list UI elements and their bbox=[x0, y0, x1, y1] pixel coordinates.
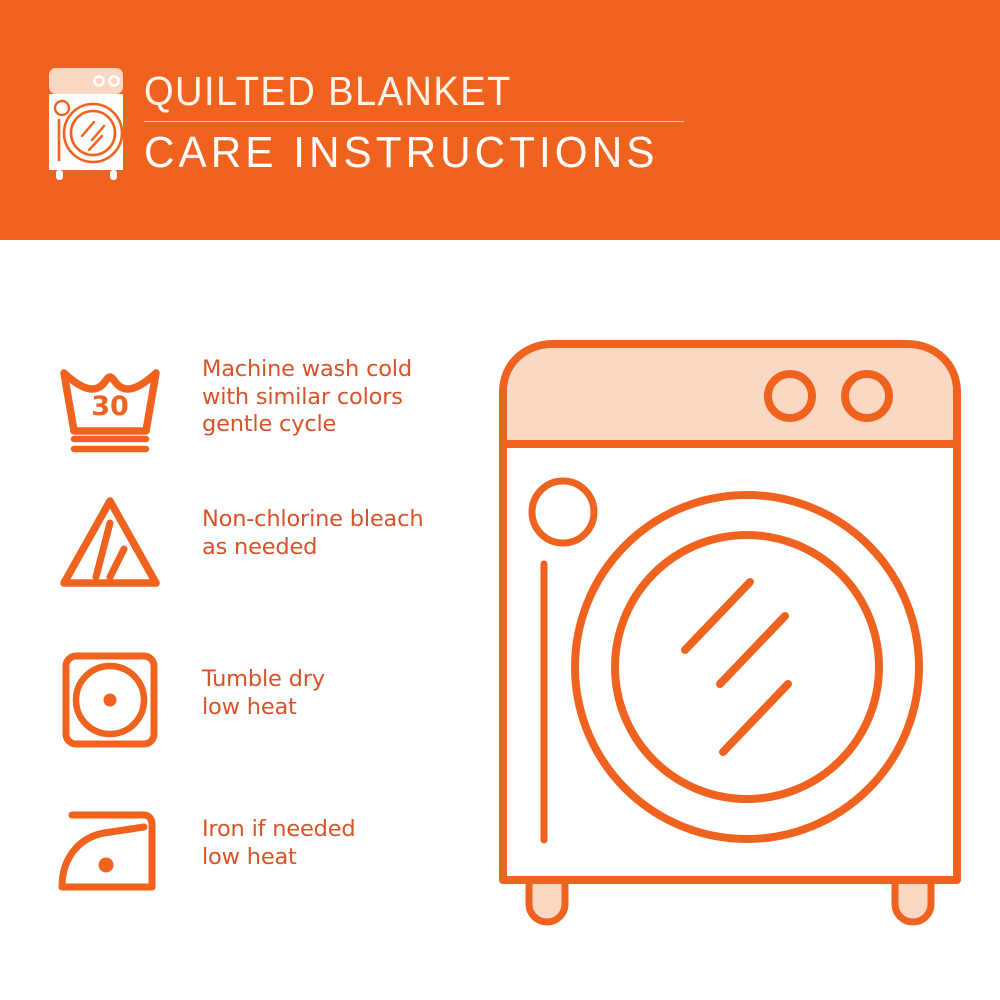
wash-basin-icon: 30 bbox=[48, 340, 172, 464]
page-title: QUILTED BLANKET bbox=[144, 68, 665, 114]
page-header: QUILTED BLANKET CARE INSTRUCTIONS bbox=[0, 0, 1000, 240]
wash-temperature-value: 30 bbox=[91, 391, 129, 422]
care-item-bleach: Non-chlorine bleach as needed bbox=[0, 480, 480, 630]
care-line: with similar colors bbox=[202, 384, 480, 412]
care-line: low heat bbox=[202, 844, 480, 872]
care-item-bleach-text: Non-chlorine bleach as needed bbox=[202, 506, 480, 561]
care-line: low heat bbox=[202, 694, 480, 722]
care-line: Tumble dry bbox=[202, 666, 480, 694]
care-item-wash: 30 Machine wash cold with similar colors… bbox=[0, 340, 480, 490]
care-line: as needed bbox=[202, 534, 480, 562]
care-line: Machine wash cold bbox=[202, 356, 480, 384]
bleach-triangle-icon bbox=[48, 480, 172, 604]
page-subtitle: CARE INSTRUCTIONS bbox=[144, 128, 682, 178]
care-item-wash-text: Machine wash cold with similar colors ge… bbox=[202, 356, 480, 439]
iron-icon bbox=[48, 790, 172, 914]
care-line: Non-chlorine bleach bbox=[202, 506, 480, 534]
care-item-iron-text: Iron if needed low heat bbox=[202, 816, 480, 871]
header-title-group: QUILTED BLANKET CARE INSTRUCTIONS bbox=[144, 68, 704, 178]
care-item-tumble-dry-text: Tumble dry low heat bbox=[202, 666, 480, 721]
tumble-dry-icon bbox=[48, 640, 172, 764]
care-item-tumble-dry: Tumble dry low heat bbox=[0, 640, 480, 790]
title-divider bbox=[144, 121, 684, 122]
care-line: gentle cycle bbox=[202, 411, 480, 439]
washing-machine-illustration bbox=[495, 332, 965, 932]
washing-machine-icon bbox=[44, 64, 136, 182]
care-item-iron: Iron if needed low heat bbox=[0, 790, 480, 940]
care-instruction-list: 30 Machine wash cold with similar colors… bbox=[0, 240, 480, 1000]
care-line: Iron if needed bbox=[202, 816, 480, 844]
